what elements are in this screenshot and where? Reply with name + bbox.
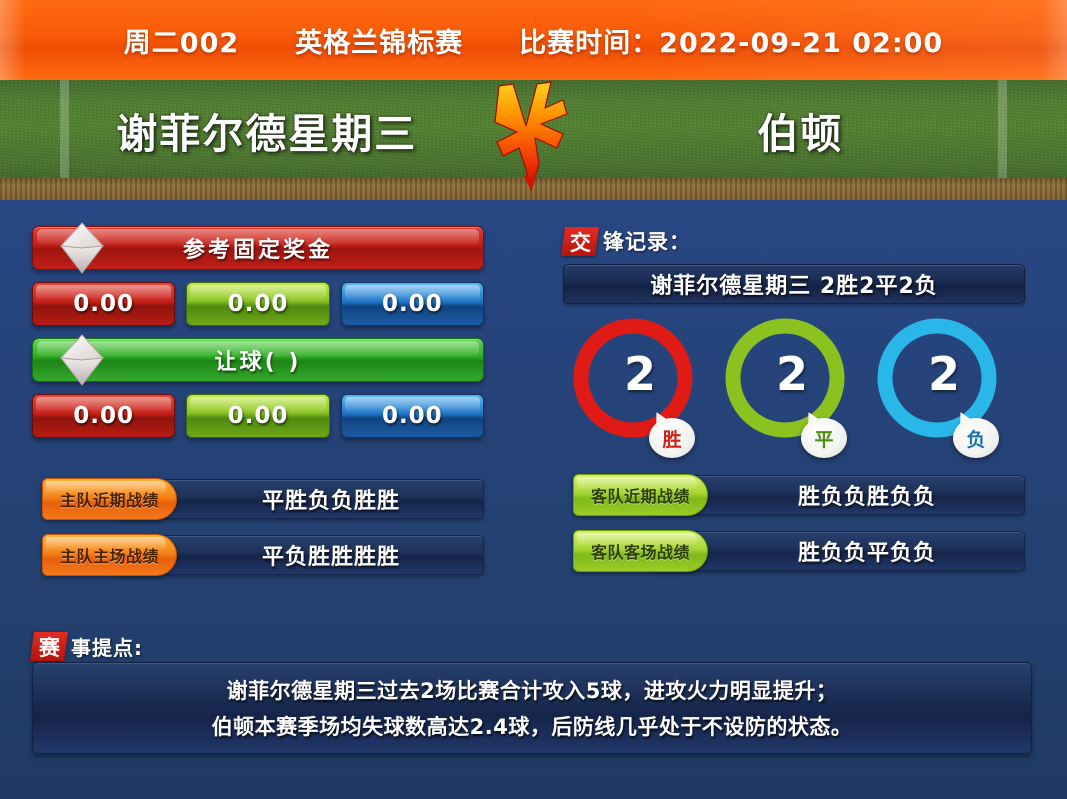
vs-flame-icon — [479, 78, 589, 193]
fixed-odds-home[interactable]: 0.00 — [32, 282, 175, 326]
h2h-summary: 谢菲尔德星期三 2胜2平2负 — [563, 264, 1025, 304]
fixed-odds-away[interactable]: 0.00 — [341, 282, 484, 326]
tip-line-1: 谢菲尔德星期三过去2场比赛合计攻入5球，进攻火力明显提升； — [227, 675, 838, 705]
content-area: 参考固定奖金 0.00 0.00 0.00 让球( ) 0.00 0.00 — [0, 200, 1067, 799]
handicap-title: 让球( ) — [215, 344, 302, 376]
h2h-win-label: 胜 — [649, 418, 695, 458]
tip-header: 赛 事提点: — [32, 632, 143, 661]
fixed-odds-draw[interactable]: 0.00 — [186, 282, 329, 326]
banner-right-glow — [1041, 0, 1067, 80]
away-recent-form-tag: 客队近期战绩 — [573, 474, 708, 516]
handicap-odds-home[interactable]: 0.00 — [32, 394, 175, 438]
fixed-odds-title: 参考固定奖金 — [183, 232, 333, 264]
h2h-loss-count: 2 — [873, 347, 1001, 401]
fixed-odds-header: 参考固定奖金 — [32, 226, 484, 270]
h2h-badge-icon: 交 — [561, 227, 599, 256]
match-preview-page: 周二002 英格兰锦标赛 比赛时间：2022-09-21 02:00 谢菲尔德星… — [0, 0, 1067, 799]
odds-panel: 参考固定奖金 0.00 0.00 0.00 让球( ) 0.00 0.00 — [32, 226, 484, 590]
handicap-odds-draw[interactable]: 0.00 — [186, 394, 329, 438]
home-team-name: 谢菲尔德星期三 — [0, 100, 534, 160]
away-team-name: 伯顿 — [534, 100, 1067, 160]
away-venue-form-tag: 客队客场战绩 — [573, 530, 708, 572]
head-to-head-header: 交 锋记录： — [563, 226, 1025, 256]
h2h-ring-win: 2 胜 — [569, 314, 697, 464]
away-recent-form-row: 胜负负胜负负 客队近期战绩 — [563, 474, 1025, 516]
fixed-odds-row: 0.00 0.00 0.00 — [32, 282, 484, 326]
league-name: 英格兰锦标赛 — [295, 21, 463, 60]
match-number: 周二002 — [124, 21, 239, 60]
h2h-loss-label: 负 — [953, 418, 999, 458]
header-banner: 周二002 英格兰锦标赛 比赛时间：2022-09-21 02:00 — [0, 0, 1067, 80]
home-venue-form-tag: 主队主场战绩 — [42, 534, 177, 576]
tip-line-2: 伯顿本赛季场均失球数高达2.4球，后防线几乎处于不设防的状态。 — [212, 711, 853, 741]
home-venue-form-row: 平负胜胜胜胜 主队主场战绩 — [32, 534, 484, 576]
home-recent-form-row: 平胜负负胜胜 主队近期战绩 — [32, 478, 484, 520]
away-recent-form-value: 胜负负胜负负 — [738, 479, 936, 511]
away-venue-form-value: 胜负负平负负 — [738, 535, 936, 567]
h2h-rings: 2 胜 2 平 — [563, 308, 1025, 474]
away-venue-form-row: 胜负负平负负 客队客场战绩 — [563, 530, 1025, 572]
h2h-draw-count: 2 — [721, 347, 849, 401]
handicap-odds-away[interactable]: 0.00 — [341, 394, 484, 438]
h2h-ring-draw: 2 平 — [721, 314, 849, 464]
home-recent-form-tag: 主队近期战绩 — [42, 478, 177, 520]
h2h-title: 锋记录： — [603, 226, 691, 256]
diamond-icon — [59, 333, 105, 387]
banner-left-glow — [0, 0, 26, 80]
tip-badge-icon: 赛 — [30, 632, 68, 661]
handicap-odds-row: 0.00 0.00 0.00 — [32, 394, 484, 438]
h2h-draw-label: 平 — [801, 418, 847, 458]
home-venue-form-value: 平负胜胜胜胜 — [202, 539, 400, 571]
home-recent-form-value: 平胜负负胜胜 — [202, 483, 400, 515]
h2h-ring-loss: 2 负 — [873, 314, 1001, 464]
head-to-head-panel: 交 锋记录： 谢菲尔德星期三 2胜2平2负 2 胜 — [563, 226, 1025, 586]
handicap-header: 让球( ) — [32, 338, 484, 382]
diamond-icon — [59, 221, 105, 275]
tip-title: 事提点: — [71, 632, 143, 661]
h2h-win-count: 2 — [569, 347, 697, 401]
tip-content-box: 谢菲尔德星期三过去2场比赛合计攻入5球，进攻火力明显提升； 伯顿本赛季场均失球数… — [32, 662, 1032, 754]
kickoff-time: 比赛时间：2022-09-21 02:00 — [519, 21, 943, 60]
